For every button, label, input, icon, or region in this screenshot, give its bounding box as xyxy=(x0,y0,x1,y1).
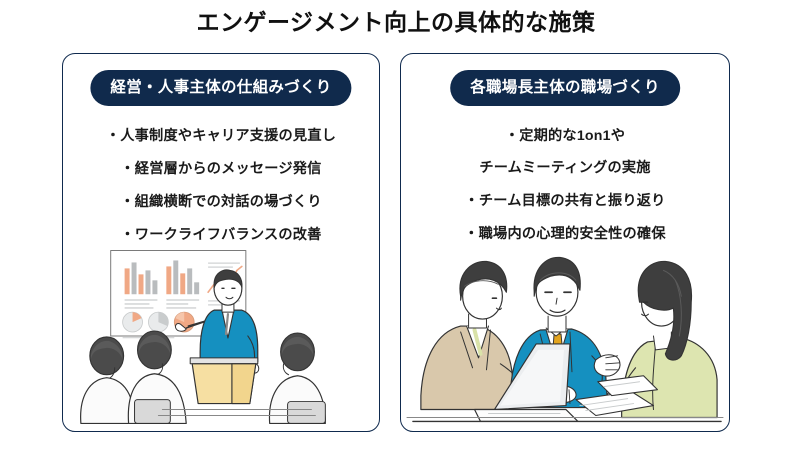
card-right-bullet-list: ・定期的な1on1や チームミーティングの実施 ・チーム目標の共有と振り返り ・… xyxy=(401,126,729,257)
card-workplace-leaders: 各職場長主体の職場づくり ・定期的な1on1や チームミーティングの実施 ・チー… xyxy=(400,53,730,432)
bullet-text-continuation: チームミーティングの実施 xyxy=(419,158,711,179)
list-item: ・経営層からのメッセージ発信 xyxy=(81,159,361,180)
list-item: ・組織横断での対話の場づくり xyxy=(81,192,361,213)
card-management-hr: 経営・人事主体の仕組みづくり ・人事制度やキャリア支援の見直し ・経営層からのメ… xyxy=(62,53,380,432)
bullet-text: ・組織横断での対話の場づくり xyxy=(120,194,321,210)
bullet-text: ・チーム目標の共有と振り返り xyxy=(464,193,665,209)
list-item: ・チーム目標の共有と振り返り xyxy=(419,191,711,212)
bullet-text: ・人事制度やキャリア支援の見直し xyxy=(106,128,336,144)
page-title: エンゲージメント向上の具体的な施策 xyxy=(0,6,792,38)
card-right-header: 各職場長主体の職場づくり xyxy=(450,70,680,106)
list-item: ・定期的な1on1や チームミーティングの実施 xyxy=(419,126,711,179)
team-discussion-illustration xyxy=(401,240,729,425)
list-item: ・人事制度やキャリア支援の見直し xyxy=(81,126,361,147)
presentation-meeting-illustration xyxy=(63,240,379,425)
card-left-bullet-list: ・人事制度やキャリア支援の見直し ・経営層からのメッセージ発信 ・組織横断での対… xyxy=(63,126,379,258)
bullet-text: ・定期的な1on1や xyxy=(505,128,625,144)
card-left-header: 経営・人事主体の仕組みづくり xyxy=(90,70,351,106)
bullet-text: ・経営層からのメッセージ発信 xyxy=(120,161,321,177)
